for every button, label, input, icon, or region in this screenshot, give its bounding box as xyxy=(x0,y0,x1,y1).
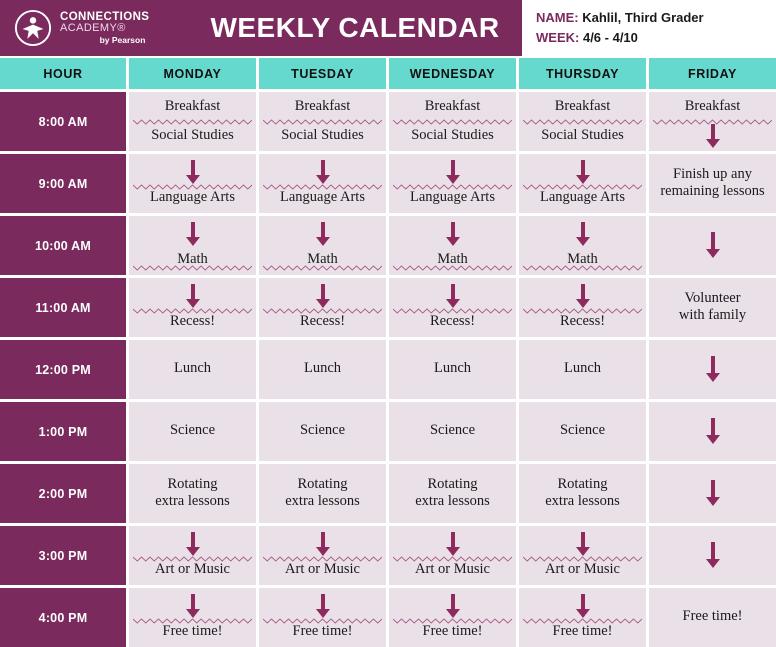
column-header-wednesday[interactable]: WEDNESDAY xyxy=(389,58,516,89)
cell-label: Lunch xyxy=(129,360,256,377)
calendar-row: 1:00 PMScienceScienceScienceScience xyxy=(0,402,776,461)
cell-label-bottom: Social Studies xyxy=(389,127,516,144)
calendar-cell[interactable]: Volunteerwith family xyxy=(649,278,776,337)
calendar-cell[interactable]: Language Arts xyxy=(259,154,386,213)
cell-label-bottom: Language Arts xyxy=(129,189,256,206)
wavy-divider xyxy=(263,265,382,271)
calendar-cell[interactable]: Lunch xyxy=(519,340,646,399)
calendar-row: 10:00 AM Math Math Math Math xyxy=(0,216,776,275)
wavy-divider xyxy=(523,119,642,125)
calendar-cell[interactable]: Breakfast Social Studies xyxy=(259,92,386,151)
week-label: WEEK: xyxy=(536,30,579,45)
cell-label: Rotatingextra lessons xyxy=(259,476,386,511)
calendar-cell[interactable]: Lunch xyxy=(259,340,386,399)
calendar-cell[interactable]: Lunch xyxy=(389,340,516,399)
cell-label-bottom: Social Studies xyxy=(129,127,256,144)
down-arrow-icon xyxy=(185,284,201,308)
down-arrow-icon xyxy=(315,532,331,556)
cell-label-bottom: Art or Music xyxy=(129,561,256,578)
brand-name: CONNECTIONS xyxy=(60,11,149,23)
hour-label-9: 4:00 PM xyxy=(0,588,126,647)
down-arrow-icon xyxy=(705,232,721,258)
hour-label-5: 12:00 PM xyxy=(0,340,126,399)
calendar-cell[interactable]: Free time! xyxy=(649,588,776,647)
cell-label-bottom: Recess! xyxy=(129,313,256,330)
calendar-cell[interactable]: Free time! xyxy=(389,588,516,647)
week-line: WEEK: 4/6 - 4/10 xyxy=(536,28,776,48)
calendar-cell[interactable]: Rotatingextra lessons xyxy=(389,464,516,523)
calendar-cell[interactable]: Rotatingextra lessons xyxy=(519,464,646,523)
calendar-cell[interactable] xyxy=(649,216,776,275)
cell-label-bottom: Recess! xyxy=(519,313,646,330)
down-arrow-icon xyxy=(315,284,331,308)
cell-label-bottom: Art or Music xyxy=(389,561,516,578)
column-header-label: HOUR xyxy=(43,67,82,81)
cell-label-bottom: Social Studies xyxy=(259,127,386,144)
person-in-circle-icon xyxy=(14,9,52,47)
cell-label-bottom: Recess! xyxy=(259,313,386,330)
week-value: 4/6 - 4/10 xyxy=(583,30,638,45)
calendar-cell[interactable]: Recess! xyxy=(259,278,386,337)
calendar-cell[interactable]: Science xyxy=(519,402,646,461)
calendar-row: 11:00 AM Recess! Recess! Recess! Recess!… xyxy=(0,278,776,337)
hour-label: 4:00 PM xyxy=(39,611,88,625)
calendar-cell[interactable]: Free time! xyxy=(519,588,646,647)
column-header-friday[interactable]: FRIDAY xyxy=(649,58,776,89)
cell-label: Science xyxy=(389,422,516,439)
cell-label-top: Breakfast xyxy=(259,98,386,115)
down-arrow-icon xyxy=(575,594,591,618)
column-header-monday[interactable]: MONDAY xyxy=(129,58,256,89)
hour-label: 3:00 PM xyxy=(39,549,88,563)
cell-label: Rotatingextra lessons xyxy=(519,476,646,511)
cell-label: Science xyxy=(519,422,646,439)
calendar-cell[interactable]: Language Arts xyxy=(129,154,256,213)
wavy-divider xyxy=(393,119,512,125)
down-arrow-icon xyxy=(575,160,591,184)
column-header-label: MONDAY xyxy=(163,67,221,81)
down-arrow-icon xyxy=(315,222,331,246)
calendar-row: 9:00 AM Language Arts Language Arts Lang… xyxy=(0,154,776,213)
calendar-row: 2:00 PMRotatingextra lessonsRotatingextr… xyxy=(0,464,776,523)
down-arrow-icon xyxy=(705,124,721,148)
calendar-cell[interactable]: Math xyxy=(259,216,386,275)
cell-label-bottom: Language Arts xyxy=(259,189,386,206)
hour-label-2: 9:00 AM xyxy=(0,154,126,213)
cell-label-bottom: Language Arts xyxy=(519,189,646,206)
calendar-cell[interactable]: Science xyxy=(389,402,516,461)
cell-label: Science xyxy=(129,422,256,439)
calendar-grid: HOURMONDAYTUESDAYWEDNESDAYTHURSDAYFRIDAY… xyxy=(0,56,776,647)
hour-label-1: 8:00 AM xyxy=(0,92,126,151)
wavy-divider xyxy=(133,119,252,125)
calendar-cell[interactable]: Math xyxy=(129,216,256,275)
down-arrow-icon xyxy=(185,594,201,618)
down-arrow-icon xyxy=(445,284,461,308)
column-header-label: FRIDAY xyxy=(688,67,737,81)
calendar-cell[interactable] xyxy=(649,340,776,399)
wavy-divider xyxy=(393,265,512,271)
cell-label: Finish up anyremaining lessons xyxy=(649,166,776,201)
hour-label-6: 1:00 PM xyxy=(0,402,126,461)
calendar-cell[interactable]: Art or Music xyxy=(129,526,256,585)
down-arrow-icon xyxy=(445,594,461,618)
page-title: WEEKLY CALENDAR xyxy=(210,12,499,44)
down-arrow-icon xyxy=(575,532,591,556)
column-header-label: THURSDAY xyxy=(546,67,619,81)
calendar-cell[interactable]: Breakfast Social Studies xyxy=(389,92,516,151)
calendar-cell[interactable]: Finish up anyremaining lessons xyxy=(649,154,776,213)
cell-label-top: Breakfast xyxy=(519,98,646,115)
down-arrow-icon xyxy=(575,284,591,308)
calendar-cell[interactable]: Language Arts xyxy=(389,154,516,213)
column-header-label: WEDNESDAY xyxy=(410,67,496,81)
cell-label-bottom: Free time! xyxy=(519,623,646,640)
column-header-thursday[interactable]: THURSDAY xyxy=(519,58,646,89)
calendar-cell[interactable]: Recess! xyxy=(129,278,256,337)
wavy-divider xyxy=(263,119,382,125)
calendar-cell[interactable]: Breakfast Social Studies xyxy=(129,92,256,151)
calendar-cell[interactable]: Math xyxy=(389,216,516,275)
cell-label-bottom: Art or Music xyxy=(519,561,646,578)
calendar-cell[interactable]: Lunch xyxy=(129,340,256,399)
calendar-cell[interactable]: Art or Music xyxy=(389,526,516,585)
down-arrow-icon xyxy=(185,222,201,246)
title-block: WEEKLY CALENDAR xyxy=(188,0,522,56)
calendar-cell[interactable]: Recess! xyxy=(389,278,516,337)
name-value: Kahlil, Third Grader xyxy=(582,10,703,25)
down-arrow-icon xyxy=(185,532,201,556)
calendar-row: 3:00 PM Art or Music Art or Music Art or… xyxy=(0,526,776,585)
cell-label: Rotatingextra lessons xyxy=(129,476,256,511)
hour-label: 1:00 PM xyxy=(39,425,88,439)
wavy-divider xyxy=(133,265,252,271)
cell-label-bottom: Free time! xyxy=(129,623,256,640)
calendar-cell[interactable]: Rotatingextra lessons xyxy=(259,464,386,523)
cell-label: Rotatingextra lessons xyxy=(389,476,516,511)
down-arrow-icon xyxy=(705,542,721,568)
hour-label-3: 10:00 AM xyxy=(0,216,126,275)
column-header-hour[interactable]: HOUR xyxy=(0,58,126,89)
cell-label: Free time! xyxy=(649,608,776,625)
hour-label: 10:00 AM xyxy=(35,239,91,253)
wavy-divider xyxy=(523,265,642,271)
calendar-cell[interactable]: Recess! xyxy=(519,278,646,337)
hour-label-4: 11:00 AM xyxy=(0,278,126,337)
cell-label-bottom: Free time! xyxy=(259,623,386,640)
column-header-tuesday[interactable]: TUESDAY xyxy=(259,58,386,89)
cell-label: Lunch xyxy=(259,360,386,377)
hour-label-7: 2:00 PM xyxy=(0,464,126,523)
cell-label: Lunch xyxy=(389,360,516,377)
calendar-cell[interactable]: Breakfast Social Studies xyxy=(519,92,646,151)
calendar-cell[interactable]: Breakfast xyxy=(649,92,776,151)
down-arrow-icon xyxy=(445,222,461,246)
calendar-cell[interactable]: Rotatingextra lessons xyxy=(129,464,256,523)
brand-byline: by Pearson xyxy=(60,36,149,45)
cell-label-bottom: Social Studies xyxy=(519,127,646,144)
cell-label-bottom: Recess! xyxy=(389,313,516,330)
calendar-cell[interactable]: Science xyxy=(129,402,256,461)
calendar-cell[interactable]: Free time! xyxy=(259,588,386,647)
hour-label: 12:00 PM xyxy=(35,363,91,377)
calendar-cell[interactable]: Science xyxy=(259,402,386,461)
cell-label-bottom: Art or Music xyxy=(259,561,386,578)
calendar-cell[interactable] xyxy=(649,402,776,461)
calendar-cell[interactable]: Free time! xyxy=(129,588,256,647)
down-arrow-icon xyxy=(185,160,201,184)
calendar-cell[interactable] xyxy=(649,526,776,585)
calendar-row: 4:00 PM Free time! Free time! Free time!… xyxy=(0,588,776,647)
hour-label: 8:00 AM xyxy=(39,115,88,129)
calendar-cell[interactable]: Art or Music xyxy=(259,526,386,585)
calendar-cell[interactable]: Language Arts xyxy=(519,154,646,213)
brand-logo-block: CONNECTIONS ACADEMY® by Pearson xyxy=(0,0,188,56)
cell-label-top: Breakfast xyxy=(649,98,776,115)
student-name-line: NAME: Kahlil, Third Grader xyxy=(536,8,776,28)
down-arrow-icon xyxy=(575,222,591,246)
calendar-cell[interactable]: Art or Music xyxy=(519,526,646,585)
column-header-label: TUESDAY xyxy=(291,67,354,81)
hour-label-8: 3:00 PM xyxy=(0,526,126,585)
page-header: CONNECTIONS ACADEMY® by Pearson WEEKLY C… xyxy=(0,0,776,56)
hour-label: 9:00 AM xyxy=(39,177,88,191)
cell-label: Lunch xyxy=(519,360,646,377)
name-label: NAME: xyxy=(536,10,579,25)
down-arrow-icon xyxy=(445,532,461,556)
down-arrow-icon xyxy=(445,160,461,184)
down-arrow-icon xyxy=(705,480,721,506)
cell-label-top: Breakfast xyxy=(129,98,256,115)
calendar-header-row: HOURMONDAYTUESDAYWEDNESDAYTHURSDAYFRIDAY xyxy=(0,58,776,89)
down-arrow-icon xyxy=(705,418,721,444)
cell-label: Science xyxy=(259,422,386,439)
down-arrow-icon xyxy=(315,594,331,618)
calendar-cell[interactable] xyxy=(649,464,776,523)
down-arrow-icon xyxy=(315,160,331,184)
brand-sub: ACADEMY® xyxy=(60,23,149,35)
cell-label-bottom: Language Arts xyxy=(389,189,516,206)
cell-label-bottom: Free time! xyxy=(389,623,516,640)
student-meta-block: NAME: Kahlil, Third Grader WEEK: 4/6 - 4… xyxy=(522,0,776,56)
hour-label: 11:00 AM xyxy=(35,301,90,315)
cell-label-top: Breakfast xyxy=(389,98,516,115)
calendar-row: 12:00 PMLunchLunchLunchLunch xyxy=(0,340,776,399)
cell-label: Volunteerwith family xyxy=(649,290,776,325)
hour-label: 2:00 PM xyxy=(39,487,88,501)
calendar-row: 8:00 AMBreakfast Social StudiesBreakfast… xyxy=(0,92,776,151)
calendar-cell[interactable]: Math xyxy=(519,216,646,275)
down-arrow-icon xyxy=(705,356,721,382)
